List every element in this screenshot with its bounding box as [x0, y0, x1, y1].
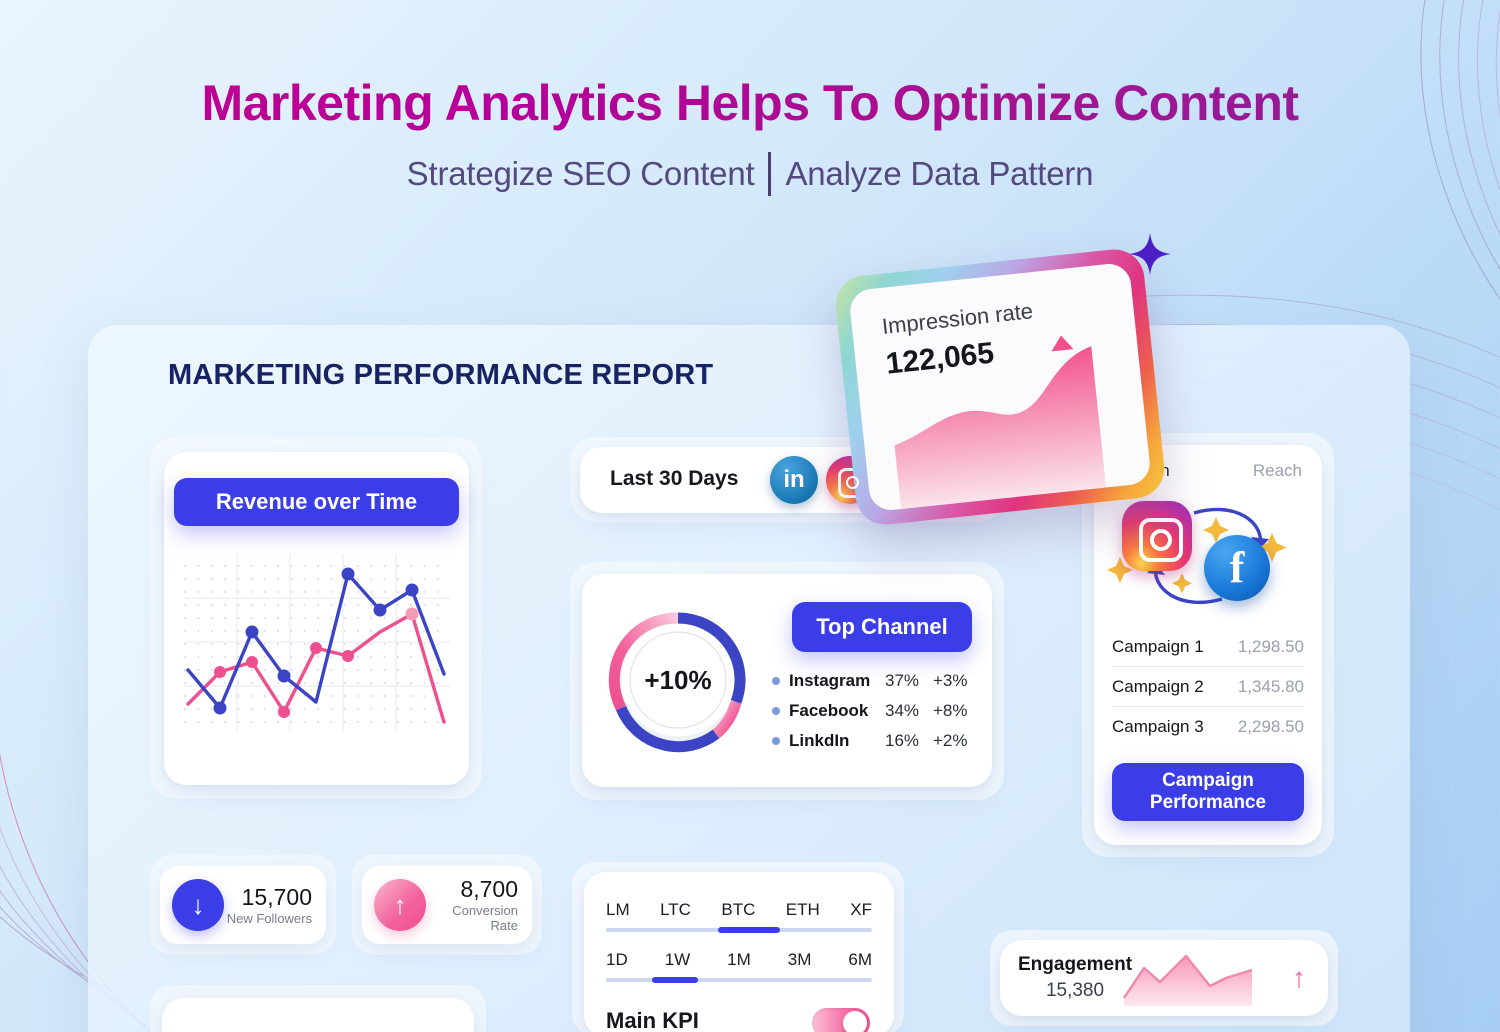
- revenue-over-time-card: Revenue over Time: [164, 452, 469, 785]
- reach-column-header: Reach: [1253, 461, 1302, 481]
- donut-center-value: +10%: [604, 606, 752, 754]
- campaign-reach: 2,298.50: [1238, 717, 1304, 737]
- symbol-tab-ltc[interactable]: LTC: [660, 900, 691, 920]
- facebook-icon[interactable]: f: [1204, 535, 1270, 601]
- subtitle-divider: [768, 152, 771, 196]
- main-kpi-toggle[interactable]: [812, 1008, 870, 1032]
- main-kpi-label: Main KPI: [606, 1008, 699, 1032]
- engagement-title: Engagement: [1018, 954, 1132, 976]
- range-tab-track[interactable]: [606, 978, 872, 982]
- legend-name: Instagram: [789, 671, 885, 691]
- legend-row: Facebook 34% +8%: [772, 696, 982, 726]
- campaign-name: Campaign 3: [1112, 717, 1204, 737]
- page-title: Marketing Analytics Helps To Optimize Co…: [0, 74, 1500, 132]
- impression-area-chart: [856, 333, 1152, 512]
- engagement-value: 15,380: [1018, 980, 1132, 1002]
- table-row: Campaign 1 1,298.50: [1112, 627, 1304, 667]
- campaign-performance-button[interactable]: Campaign Performance: [1112, 763, 1304, 821]
- legend-dot-icon: [772, 737, 780, 745]
- impression-card-inner: Impression rate 122,065: [848, 262, 1152, 512]
- subtitle-right: Analyze Data Pattern: [785, 155, 1093, 193]
- campaign-reach: 1,345.80: [1238, 677, 1304, 697]
- campaign-name: Campaign 2: [1112, 677, 1204, 697]
- engagement-sparkline: [1122, 952, 1262, 1008]
- arrow-down-icon: ↓: [172, 879, 224, 931]
- legend-row: LinkdIn 16% +2%: [772, 726, 982, 756]
- arrow-up-icon: ↑: [374, 879, 426, 931]
- sparkle-star-icon: [1128, 232, 1172, 276]
- last-30-days-label: Last 30 Days: [610, 467, 738, 491]
- symbol-tab-eth[interactable]: ETH: [786, 900, 820, 920]
- campaign-reach: 1,298.50: [1238, 637, 1304, 657]
- legend-percent: 34%: [885, 701, 933, 721]
- conversion-rate-label: Conversion Rate: [426, 904, 518, 934]
- legend-delta: +8%: [933, 701, 968, 721]
- conversion-rate-text: 8,700 Conversion Rate: [426, 876, 532, 934]
- range-tab-3m[interactable]: 3M: [788, 950, 812, 970]
- subtitle-row: Strategize SEO Content Analyze Data Patt…: [0, 152, 1500, 196]
- legend-dot-icon: [772, 707, 780, 715]
- table-row: Campaign 2 1,345.80: [1112, 667, 1304, 707]
- legend-name: LinkdIn: [789, 731, 885, 751]
- engagement-text: Engagement 15,380: [1018, 954, 1132, 1002]
- revenue-over-time-button[interactable]: Revenue over Time: [174, 478, 459, 526]
- impression-rate-floating-card: Impression rate 122,065: [833, 246, 1167, 527]
- table-row: Campaign 3 2,298.50: [1112, 707, 1304, 747]
- instagram-icon[interactable]: [1122, 501, 1192, 571]
- arrow-up-icon: ↑: [1292, 962, 1306, 994]
- range-tab-6m[interactable]: 6M: [848, 950, 872, 970]
- range-tab-1d[interactable]: 1D: [606, 950, 628, 970]
- new-followers-label: New Followers: [224, 912, 312, 927]
- conversion-rate-value: 8,700: [426, 876, 518, 903]
- linkedin-icon[interactable]: in: [770, 456, 818, 504]
- top-channel-button[interactable]: Top Channel: [792, 602, 972, 652]
- report-title: MARKETING PERFORMANCE REPORT: [168, 359, 713, 392]
- legend-delta: +3%: [933, 671, 968, 691]
- legend-dot-icon: [772, 677, 780, 685]
- range-tab-1w[interactable]: 1W: [665, 950, 691, 970]
- campaign-table: Campaign 1 1,298.50 Campaign 2 1,345.80 …: [1112, 627, 1304, 747]
- range-tab-indicator: [652, 977, 698, 983]
- legend-percent: 37%: [885, 671, 933, 691]
- campaign-social-icons: f: [1094, 487, 1322, 617]
- conversion-rate-card: ↑ 8,700 Conversion Rate: [362, 866, 532, 944]
- symbol-tabs: LM LTC BTC ETH XF: [606, 900, 872, 920]
- top-channel-card: Top Channel +10% Instagram 37% +3% Faceb…: [582, 574, 992, 787]
- symbol-tab-indicator: [718, 927, 780, 933]
- symbol-tab-xf[interactable]: XF: [850, 900, 872, 920]
- new-followers-value: 15,700: [224, 884, 312, 911]
- legend-delta: +2%: [933, 731, 968, 751]
- campaign-button-line2: Performance: [1150, 792, 1266, 814]
- campaign-button-line1: Campaign: [1162, 770, 1254, 792]
- legend-percent: 16%: [885, 731, 933, 751]
- symbol-tab-btc[interactable]: BTC: [721, 900, 755, 920]
- empty-card: [162, 998, 474, 1032]
- new-followers-text: 15,700 New Followers: [224, 884, 326, 927]
- symbol-tab-track[interactable]: [606, 928, 872, 932]
- page-header: Marketing Analytics Helps To Optimize Co…: [0, 74, 1500, 196]
- engagement-card: Engagement 15,380 ↑: [1000, 940, 1328, 1016]
- subtitle-left: Strategize SEO Content: [407, 155, 755, 193]
- range-tabs: 1D 1W 1M 3M 6M: [606, 950, 872, 970]
- campaign-name: Campaign 1: [1112, 637, 1204, 657]
- campaign-card: mpaign Reach f Campaign 1 1,298.50 Campa…: [1094, 445, 1322, 845]
- new-followers-card: ↓ 15,700 New Followers: [160, 866, 326, 944]
- top-channel-legend: Instagram 37% +3% Facebook 34% +8% Linkd…: [772, 666, 982, 756]
- symbol-tab-lm[interactable]: LM: [606, 900, 630, 920]
- legend-row: Instagram 37% +3%: [772, 666, 982, 696]
- revenue-line-chart: [184, 552, 450, 737]
- legend-name: Facebook: [789, 701, 885, 721]
- main-kpi-card: LM LTC BTC ETH XF 1D 1W 1M 3M 6M Main KP…: [584, 872, 894, 1032]
- range-tab-1m[interactable]: 1M: [727, 950, 751, 970]
- impression-rate-label: Impression rate: [881, 298, 1035, 340]
